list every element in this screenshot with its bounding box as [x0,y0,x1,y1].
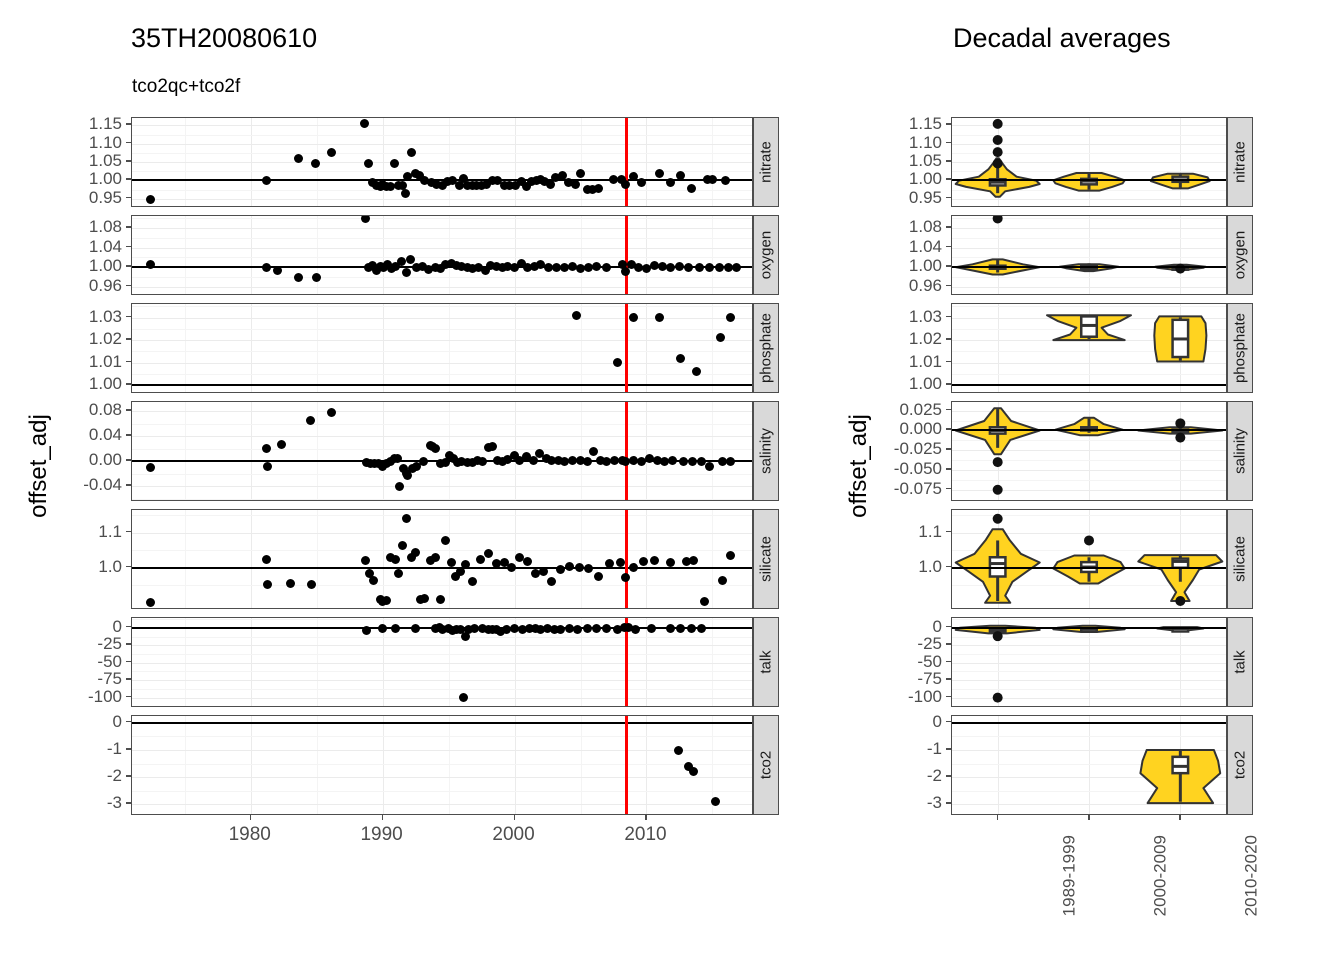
violin-oxygen-2010-2020[interactable] [1155,264,1205,274]
y-tick-label: 1.15 [89,114,122,134]
gridline-vertical [317,510,318,608]
y-tick-mark [126,678,131,680]
y-tick-label: 1.04 [909,237,942,257]
data-point [711,797,720,806]
outlier-point [993,514,1003,524]
data-point [382,596,391,605]
violin-salinity-2000-2009[interactable] [1055,418,1122,435]
data-point [146,260,155,269]
y-tick-mark [126,265,131,267]
facet-strip-label: tco2 [1232,751,1249,779]
data-point [461,560,470,569]
y-tick-mark [126,531,131,533]
y-tick-mark [946,178,951,180]
y-tick-label: -1 [927,739,942,759]
x-tick-label-decade: 2010-2020 [1242,835,1262,916]
y-tick-label: 1.15 [909,114,942,134]
y-tick-mark [946,678,951,680]
violin-facet-row-talk: talk [951,617,1253,707]
y-tick-label: 1.01 [909,352,942,372]
facet-row-nitrate: nitrate [131,117,779,207]
y-tick-label: 1.00 [89,256,122,276]
data-point [621,180,630,189]
data-point [715,263,724,272]
violin-phosphate-2010-2020[interactable] [1154,316,1206,361]
data-point [708,175,717,184]
y-tick-label: -2 [107,766,122,786]
gridline-horizontal [132,750,752,751]
data-point [327,148,336,157]
y-tick-mark [946,285,951,287]
y-tick-mark [126,316,131,318]
data-point [688,457,697,466]
violin-layer [952,304,1226,392]
gridline-vertical [581,510,582,608]
data-point [459,693,468,702]
data-point [294,273,303,282]
data-point [398,541,407,550]
y-tick-label: -75 [97,669,122,689]
gridline-horizontal [132,287,752,288]
data-point [700,597,709,606]
y-tick-mark [126,802,131,804]
y-tick-mark [946,409,951,411]
y-tick-mark [946,468,951,470]
data-point [576,169,585,178]
facet-strip-nitrate: nitrate [753,117,779,207]
y-tick-mark [126,361,131,363]
gridline-horizontal-minor [132,374,752,375]
y-tick-mark [946,696,951,698]
data-point [402,514,411,523]
y-tick-mark [126,226,131,228]
data-point [705,462,714,471]
gridline-horizontal [132,125,752,126]
violin-facet-strip-phosphate: phosphate [1227,303,1253,393]
y-tick-label: 1.10 [909,133,942,153]
violin-salinity-1989-1999[interactable] [956,408,1040,494]
data-point [311,159,320,168]
y-tick-label: -100 [88,687,122,707]
y-tick-label: -100 [908,687,942,707]
data-point [360,119,369,128]
y-tick-mark [946,197,951,199]
data-point [369,576,378,585]
data-point [732,263,741,272]
data-point [294,154,303,163]
y-tick-mark [126,338,131,340]
gridline-vertical [449,716,450,814]
data-point [679,457,688,466]
data-point [393,454,402,463]
y-tick-label: 1.04 [89,237,122,257]
reference-line [952,429,1226,431]
y-tick-mark [946,748,951,750]
violin-facet-row-nitrate: nitrate [951,117,1253,207]
gridline-vertical [712,510,713,608]
data-point [262,176,271,185]
y-tick-mark [946,661,951,663]
data-point [629,313,638,322]
outlier-point [993,158,1003,168]
gridline-vertical [646,716,647,814]
y-tick-label: 1.03 [89,307,122,327]
y-tick-mark [946,338,951,340]
gridline-horizontal-minor [132,277,752,278]
data-point [616,558,625,567]
data-point [146,463,155,472]
facet-strip-label: oxygen [1232,231,1249,279]
x-tick-mark [645,815,647,820]
violin-layer [952,402,1226,500]
data-point [705,263,714,272]
data-point [286,579,295,588]
outlier-point [1175,418,1185,428]
violin-layer [952,118,1226,206]
gridline-horizontal [132,486,752,487]
violin-layer [952,510,1226,608]
facet-row-tco2: tco2 [131,715,779,815]
data-point [572,311,581,320]
y-tick-label: 1.00 [89,169,122,189]
data-point [488,442,497,451]
violin-nitrate-1989-1999[interactable] [956,119,1040,197]
left-plot-title: 35TH20080610 [131,23,317,54]
y-tick-mark [946,265,951,267]
data-point [146,598,155,607]
gridline-horizontal [132,777,752,778]
gridline-horizontal-minor [132,153,752,154]
y-tick-mark [126,434,131,436]
y-tick-mark [946,428,951,430]
outlier-point [1175,433,1185,443]
data-point [447,558,456,567]
x-tick-label: 2000 [492,824,534,846]
y-tick-mark [946,142,951,144]
gridline-horizontal-minor [132,654,752,655]
y-tick-mark [946,643,951,645]
plot-area-silicate [131,509,753,609]
data-point [674,746,683,755]
y-tick-label: -3 [107,793,122,813]
data-point [655,169,664,178]
y-tick-label: 1.03 [909,307,942,327]
facet-strip-salinity: salinity [753,401,779,501]
violin-facet-strip-nitrate: nitrate [1227,117,1253,207]
outlier-point [993,631,1003,641]
y-tick-mark [126,626,131,628]
gridline-horizontal-minor [132,619,752,620]
y-tick-label: -50 [97,652,122,672]
gridline-horizontal-minor [132,791,752,792]
reference-line [952,384,1226,386]
gridline-horizontal-minor [132,329,752,330]
data-point [420,594,429,603]
violin-tco2-2010-2020[interactable] [1140,750,1220,803]
y-tick-label: -25 [97,634,122,654]
data-point [718,576,727,585]
y-tick-mark [126,484,131,486]
data-point [621,573,630,582]
violin-facet-strip-oxygen: oxygen [1227,215,1253,295]
data-point [394,569,403,578]
y-tick-label: 1.0 [918,557,942,577]
data-point [583,624,592,633]
data-point [391,624,400,633]
x-tick-label: 1990 [360,824,402,846]
outlier-point [993,135,1003,145]
gridline-horizontal [132,199,752,200]
y-tick-label: -2 [927,766,942,786]
y-tick-label: 1.0 [98,557,122,577]
violin-nitrate-2000-2009[interactable] [1053,173,1124,191]
violin-plot-area-tco2 [951,715,1227,815]
data-point [666,558,675,567]
data-point [676,354,685,363]
data-point [362,626,371,635]
data-point [589,447,598,456]
gridline-vertical [581,716,582,814]
y-tick-label: 0.04 [89,425,122,445]
outlier-point [1175,264,1185,274]
facet-strip-oxygen: oxygen [753,215,779,295]
figure-root: 35TH20080610 tco2qc+tco2f Decadal averag… [0,0,1344,960]
data-point [666,263,675,272]
y-tick-mark [126,566,131,568]
gridline-horizontal-minor [132,238,752,239]
data-point [666,178,675,187]
data-point [695,263,704,272]
data-point [726,457,735,466]
cruise-year-marker [625,216,628,294]
cruise-year-marker [625,402,628,500]
gridline-horizontal-minor [132,764,752,765]
data-point [726,551,735,560]
violin-silicate-2010-2020[interactable] [1138,554,1222,606]
y-tick-label: -0.025 [894,439,942,459]
facet-strip-label: tco2 [758,751,775,779]
data-point [419,457,428,466]
outlier-point [993,119,1003,129]
gridline-horizontal-minor [132,218,752,219]
y-tick-label: 0 [113,712,122,732]
y-tick-mark [946,160,951,162]
violin-layer [952,716,1226,814]
violin-facet-row-oxygen: oxygen [951,215,1253,295]
y-tick-label: 1.1 [98,522,122,542]
gridline-vertical [383,716,384,814]
gridline-horizontal-minor [132,585,752,586]
data-point [306,416,315,425]
y-tick-mark [126,197,131,199]
x-tick-mark [997,815,999,820]
gridline-horizontal [132,144,752,145]
gridline-horizontal [132,436,752,437]
data-point [668,456,677,465]
facet-strip-label: phosphate [758,313,775,383]
violin-facet-strip-talk: talk [1227,617,1253,707]
y-tick-label: 1.00 [909,169,942,189]
data-point [478,457,487,466]
data-point [402,268,411,277]
data-point [436,595,445,604]
y-tick-label: 0.95 [909,188,942,208]
data-point [613,358,622,367]
data-point [575,563,584,572]
y-tick-label: 1.00 [909,374,942,394]
y-tick-label: 0.96 [89,276,122,296]
data-point [262,555,271,564]
y-tick-mark [946,316,951,318]
left-plot-subtitle: tco2qc+tco2f [132,76,240,98]
gridline-horizontal-minor [132,474,752,475]
data-point [431,553,440,562]
y-tick-mark [946,123,951,125]
y-tick-label: -0.075 [894,479,942,499]
data-point [629,563,638,572]
violin-facet-strip-silicate: silicate [1227,509,1253,609]
gridline-horizontal-minor [132,671,752,672]
data-point [594,184,603,193]
y-tick-label: 0.025 [899,400,942,420]
y-tick-label: 0.96 [909,276,942,296]
violin-plot-area-phosphate [951,303,1227,393]
violin-talk-1989-1999[interactable] [956,626,1040,703]
gridline-horizontal-minor [132,637,752,638]
data-point [484,549,493,558]
violin-layer [952,618,1226,706]
gridline-horizontal-minor [132,351,752,352]
y-tick-mark [126,383,131,385]
violin-silicate-2000-2009[interactable] [1053,535,1124,583]
facet-row-talk: talk [131,617,779,707]
data-point [401,189,410,198]
y-tick-label: 0.95 [89,188,122,208]
y-tick-label: 0 [113,617,122,637]
data-point [594,572,603,581]
data-point [277,440,286,449]
right-y-axis-title: offset_adj [845,391,873,541]
data-point [592,624,601,633]
data-point [583,457,592,466]
y-tick-label: 0 [933,712,942,732]
y-tick-mark [126,459,131,461]
plot-area-salinity [131,401,753,501]
y-tick-mark [946,383,951,385]
gridline-horizontal [132,645,752,646]
violin-facet-row-phosphate: phosphate [951,303,1253,393]
violin-plot-area-salinity [951,401,1227,501]
violin-phosphate-2000-2009[interactable] [1047,315,1131,340]
y-tick-label: 0.000 [899,419,942,439]
facet-strip-label: oxygen [758,231,775,279]
outlier-point [1175,596,1185,606]
left-y-axis-title: offset_adj [25,391,53,541]
y-tick-mark [946,361,951,363]
gridline-vertical [383,510,384,608]
data-point [556,625,565,634]
gridline-horizontal [132,340,752,341]
y-tick-label: -3 [927,793,942,813]
y-tick-mark [946,226,951,228]
data-point [565,562,574,571]
x-tick-label-decade: 1989-1999 [1059,835,1079,916]
reference-line [952,722,1226,724]
data-point [378,624,387,633]
y-tick-mark [126,142,131,144]
y-tick-mark [126,123,131,125]
gridline-vertical [251,510,252,608]
data-point [721,176,730,185]
data-point [411,548,420,557]
y-tick-mark [946,566,951,568]
violin-silicate-1989-1999[interactable] [956,514,1040,603]
violin-plot-area-oxygen [951,215,1227,295]
data-point [687,624,696,633]
violin-layer [952,216,1226,294]
data-point [697,624,706,633]
y-tick-mark [946,626,951,628]
y-tick-label: 1.10 [89,133,122,153]
facet-row-salinity: salinity [131,401,779,501]
y-tick-label: 0.00 [89,450,122,470]
y-tick-mark [946,531,951,533]
gridline-horizontal-minor [132,257,752,258]
gridline-vertical [515,716,516,814]
y-tick-label: 1.00 [909,256,942,276]
y-tick-label: 1.02 [89,329,122,349]
data-point [411,624,420,633]
data-point [262,263,271,272]
cruise-year-marker [625,716,628,814]
y-tick-mark [946,246,951,248]
x-tick-label: 2010 [624,824,666,846]
y-tick-mark [126,178,131,180]
facet-strip-label: nitrate [1232,141,1249,183]
data-point [631,625,640,634]
right-plot-title: Decadal averages [953,23,1171,54]
plot-area-phosphate [131,303,753,393]
gridline-horizontal [132,533,752,534]
y-tick-mark [946,721,951,723]
gridline-horizontal-minor [132,550,752,551]
data-point [726,313,735,322]
data-point [390,159,399,168]
x-tick-label-decade: 2000-2009 [1150,835,1170,916]
gridline-horizontal-minor [132,736,752,737]
y-tick-label: 1.02 [909,329,942,349]
gridline-horizontal [132,228,752,229]
y-tick-label: -25 [917,634,942,654]
cruise-year-marker [625,304,628,392]
reference-line [952,567,1226,569]
data-point [602,624,611,633]
facet-strip-label: talk [758,650,775,673]
facet-strip-talk: talk [753,617,779,707]
y-tick-mark [946,488,951,490]
gridline-horizontal-minor [132,306,752,307]
facet-row-oxygen: oxygen [131,215,779,295]
y-tick-mark [126,285,131,287]
x-tick-mark [514,815,516,820]
gridline-horizontal [132,411,752,412]
violin-facet-row-tco2: tco2 [951,715,1253,815]
gridline-horizontal [132,680,752,681]
data-point [602,263,611,272]
facet-strip-tco2: tco2 [753,715,779,815]
outlier-point [993,457,1003,467]
facet-strip-label: talk [1232,650,1249,673]
